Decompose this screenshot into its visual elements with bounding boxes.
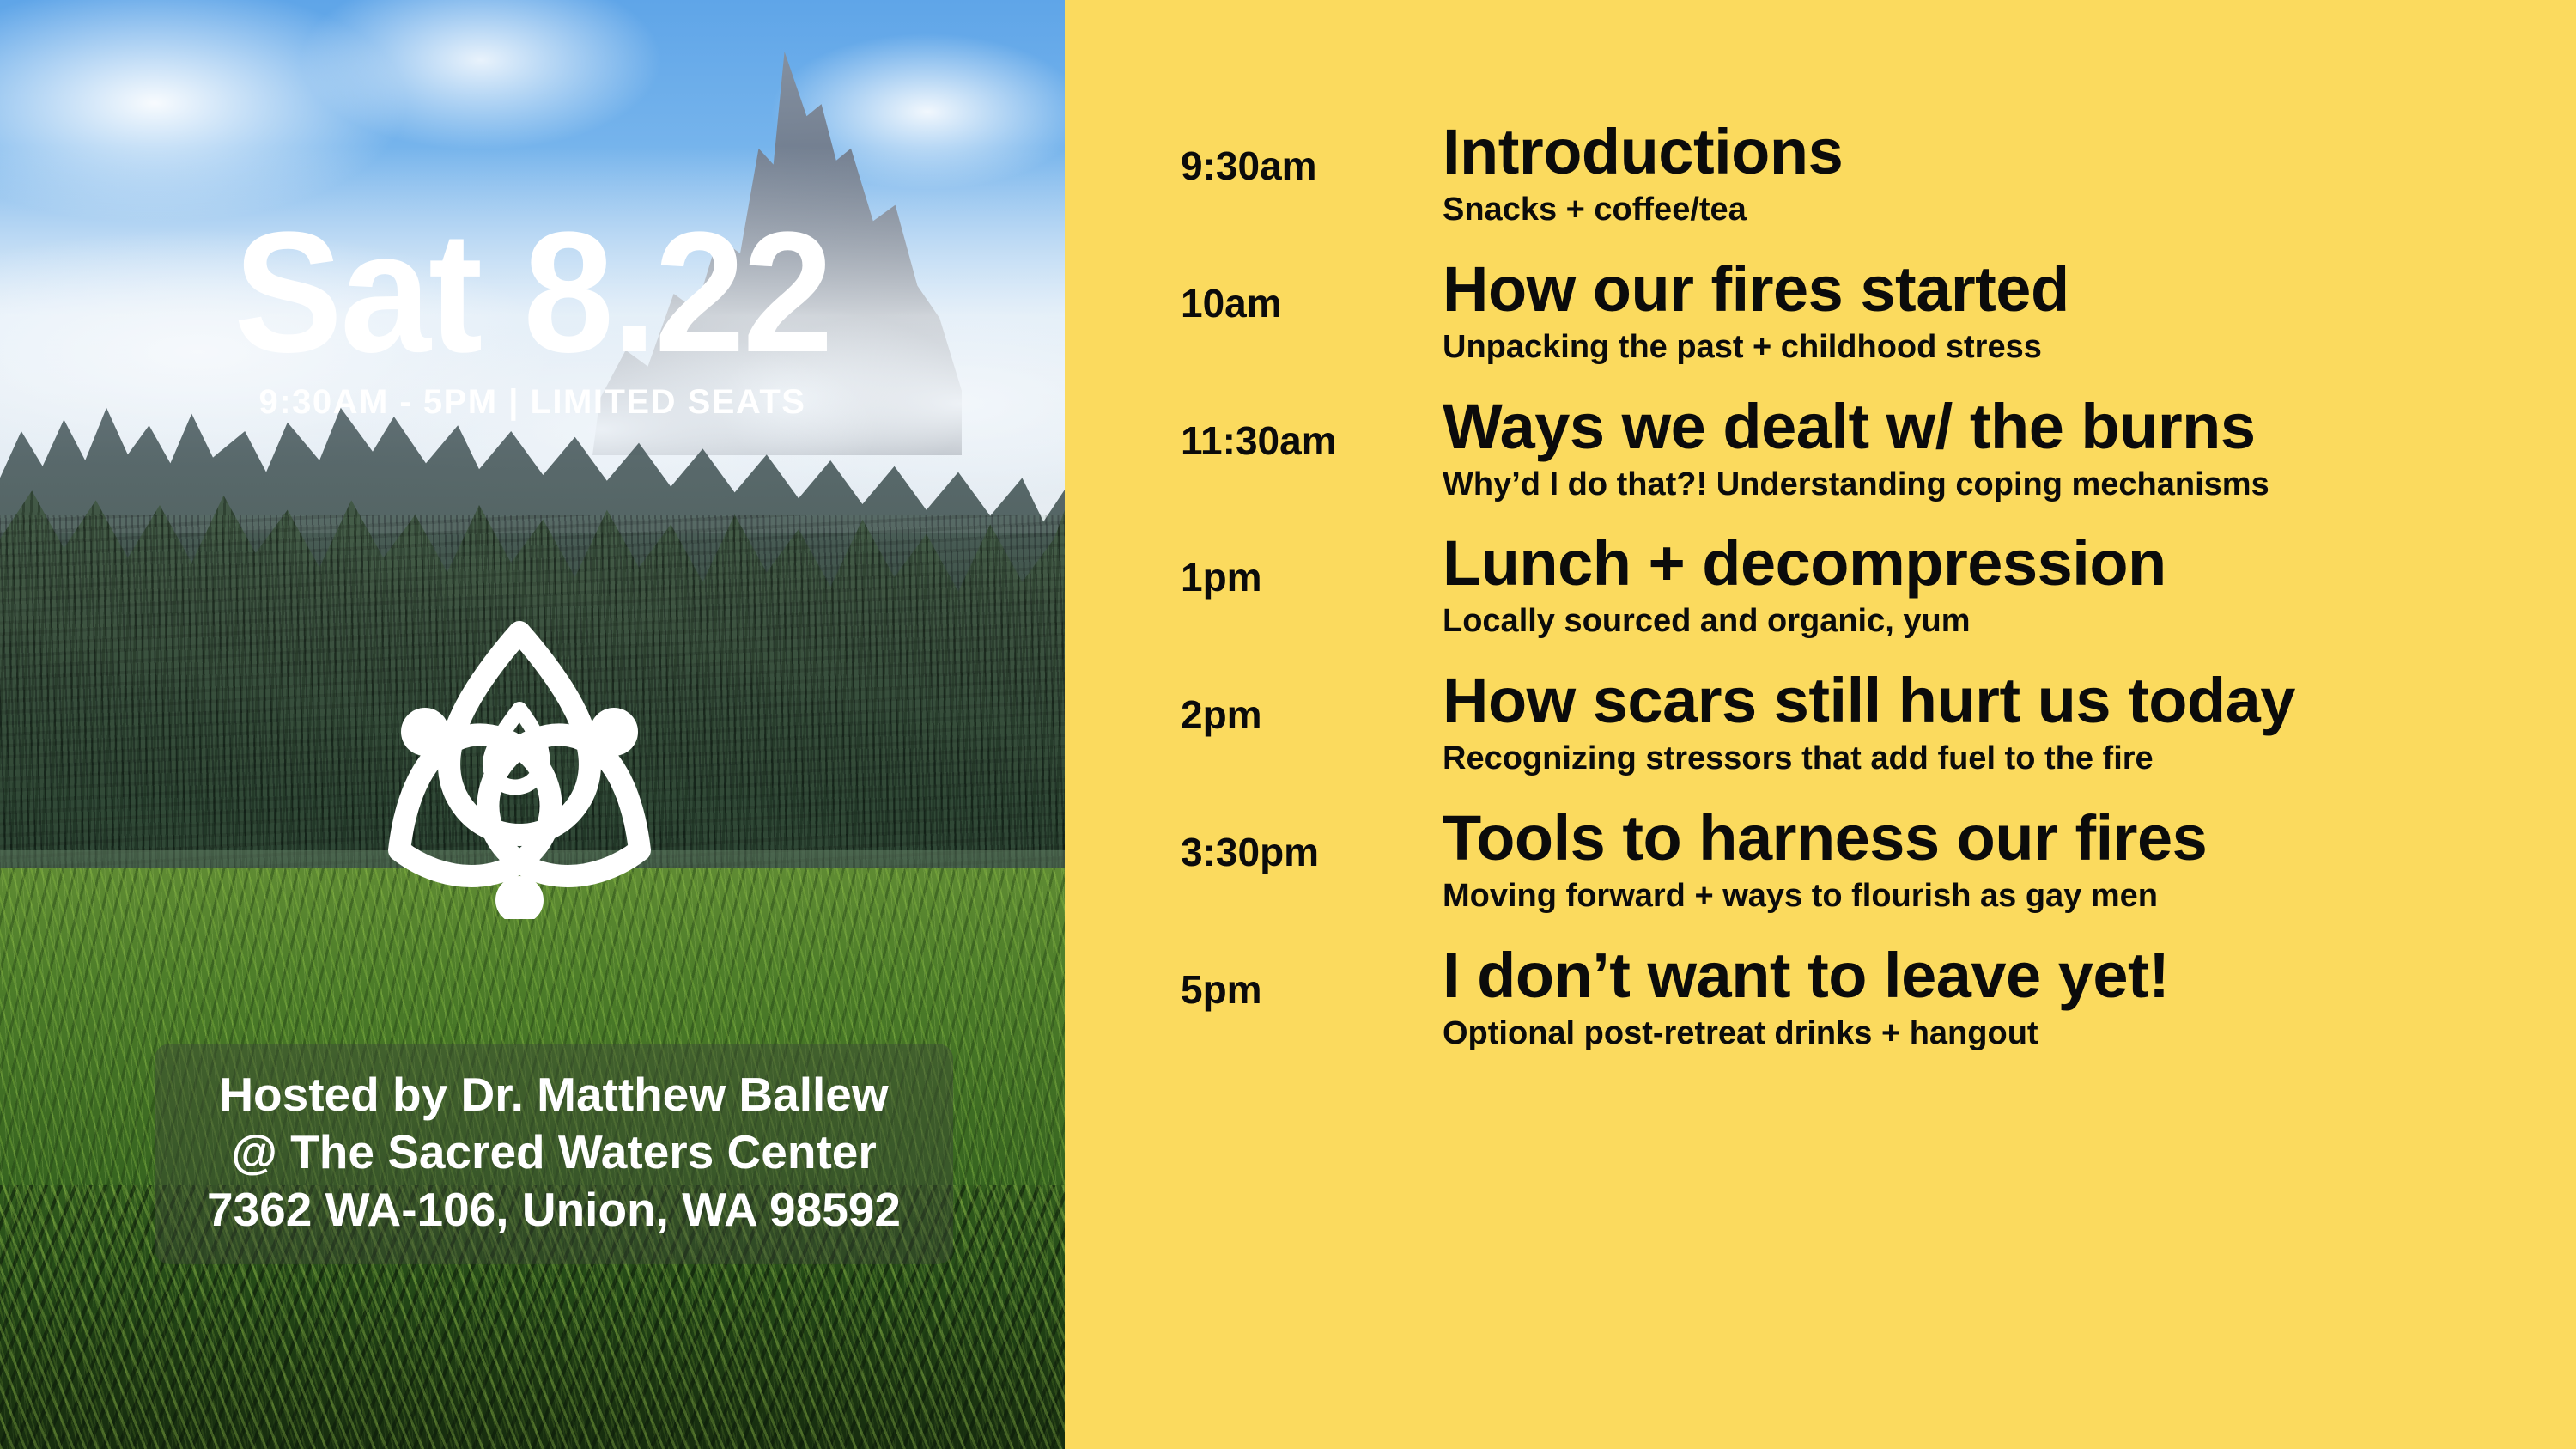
- schedule-entry: How our fires started Unpacking the past…: [1443, 258, 2555, 366]
- schedule-title: Introductions: [1443, 120, 2555, 184]
- schedule-list: 9:30am Introductions Snacks + coffee/tea…: [1181, 120, 2555, 1081]
- schedule-title: I don’t want to leave yet!: [1443, 944, 2555, 1008]
- schedule-subtitle: Locally sourced and organic, yum: [1443, 604, 2555, 640]
- host-location-card: Hosted by Dr. Matthew Ballew @ The Sacre…: [155, 1044, 953, 1264]
- schedule-entry: I don’t want to leave yet! Optional post…: [1443, 944, 2555, 1052]
- schedule-subtitle: Unpacking the past + childhood stress: [1443, 330, 2555, 366]
- schedule-panel: 9:30am Introductions Snacks + coffee/tea…: [1065, 0, 2576, 1449]
- schedule-time: 9:30am: [1181, 120, 1443, 186]
- retreat-schedule-poster: Sat 8.22 9:30AM - 5PM | LIMITED SEATS Ho…: [0, 0, 2576, 1449]
- schedule-time: 10am: [1181, 258, 1443, 323]
- schedule-title: Lunch + decompression: [1443, 532, 2555, 595]
- schedule-row: 2pm How scars still hurt us today Recogn…: [1181, 669, 2555, 777]
- schedule-row: 11:30am Ways we dealt w/ the burns Why’d…: [1181, 395, 2555, 503]
- schedule-title: Tools to harness our fires: [1443, 807, 2555, 870]
- hero-headline-block: Sat 8.22 9:30AM - 5PM | LIMITED SEATS: [0, 211, 1065, 422]
- schedule-row: 3:30pm Tools to harness our fires Moving…: [1181, 807, 2555, 915]
- schedule-subtitle: Moving forward + ways to flourish as gay…: [1443, 879, 2555, 915]
- schedule-time: 5pm: [1181, 944, 1443, 1009]
- schedule-row: 1pm Lunch + decompression Locally source…: [1181, 532, 2555, 640]
- schedule-time: 3:30pm: [1181, 807, 1443, 872]
- triquetra-flame-logo: [365, 601, 674, 919]
- schedule-title: Ways we dealt w/ the burns: [1443, 395, 2555, 459]
- schedule-entry: How scars still hurt us today Recognizin…: [1443, 669, 2555, 777]
- schedule-entry: Tools to harness our fires Moving forwar…: [1443, 807, 2555, 915]
- schedule-entry: Lunch + decompression Locally sourced an…: [1443, 532, 2555, 640]
- schedule-time: 1pm: [1181, 532, 1443, 597]
- schedule-row: 9:30am Introductions Snacks + coffee/tea: [1181, 120, 2555, 228]
- host-name-line: Hosted by Dr. Matthew Ballew: [172, 1066, 936, 1123]
- schedule-time: 2pm: [1181, 669, 1443, 734]
- schedule-entry: Ways we dealt w/ the burns Why’d I do th…: [1443, 395, 2555, 503]
- event-date-headline: Sat 8.22: [27, 211, 1038, 374]
- event-time-seats-subline: 9:30AM - 5PM | LIMITED SEATS: [0, 383, 1065, 422]
- schedule-title: How our fires started: [1443, 258, 2555, 321]
- schedule-subtitle: Snacks + coffee/tea: [1443, 192, 2555, 228]
- schedule-subtitle: Recognizing stressors that add fuel to t…: [1443, 741, 2555, 777]
- schedule-subtitle: Why’d I do that?! Understanding coping m…: [1443, 467, 2555, 503]
- venue-address-line: 7362 WA-106, Union, WA 98592: [172, 1181, 936, 1239]
- schedule-row: 5pm I don’t want to leave yet! Optional …: [1181, 944, 2555, 1052]
- schedule-row: 10am How our fires started Unpacking the…: [1181, 258, 2555, 366]
- schedule-entry: Introductions Snacks + coffee/tea: [1443, 120, 2555, 228]
- venue-name-line: @ The Sacred Waters Center: [172, 1123, 936, 1181]
- schedule-time: 11:30am: [1181, 395, 1443, 460]
- schedule-title: How scars still hurt us today: [1443, 669, 2555, 733]
- schedule-subtitle: Optional post-retreat drinks + hangout: [1443, 1016, 2555, 1052]
